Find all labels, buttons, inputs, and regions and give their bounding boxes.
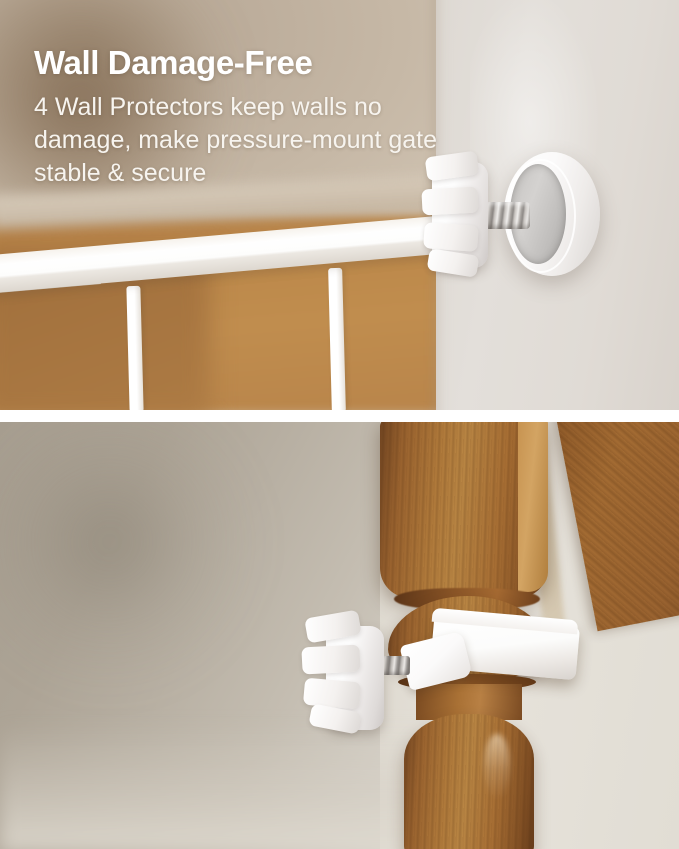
post-taper-highlight — [484, 734, 510, 800]
knob-grip-ridge — [301, 645, 360, 675]
panel-divider — [0, 410, 679, 422]
feature-headline: Wall Damage-Free — [34, 43, 464, 83]
product-feature-graphic: Wall Damage-Free 4 Wall Protectors keep … — [0, 0, 679, 849]
feature-panel-wall-damage-free: Wall Damage-Free 4 Wall Protectors keep … — [0, 0, 679, 410]
y-spindle-hardware — [300, 612, 590, 742]
knob-grip-ridge — [423, 222, 479, 252]
knob-grip-ridge — [421, 187, 478, 216]
knob-grip-ridge — [303, 678, 361, 710]
feature-body-text: 4 Wall Protectors keep walls no damage, … — [34, 91, 464, 190]
post-bevel-edge — [518, 422, 548, 592]
wall-shadow — [0, 422, 260, 692]
y-spindle-sleeve — [399, 631, 472, 691]
feature-copy-top: Wall Damage-Free 4 Wall Protectors keep … — [34, 43, 464, 190]
banister-rail — [548, 422, 679, 631]
